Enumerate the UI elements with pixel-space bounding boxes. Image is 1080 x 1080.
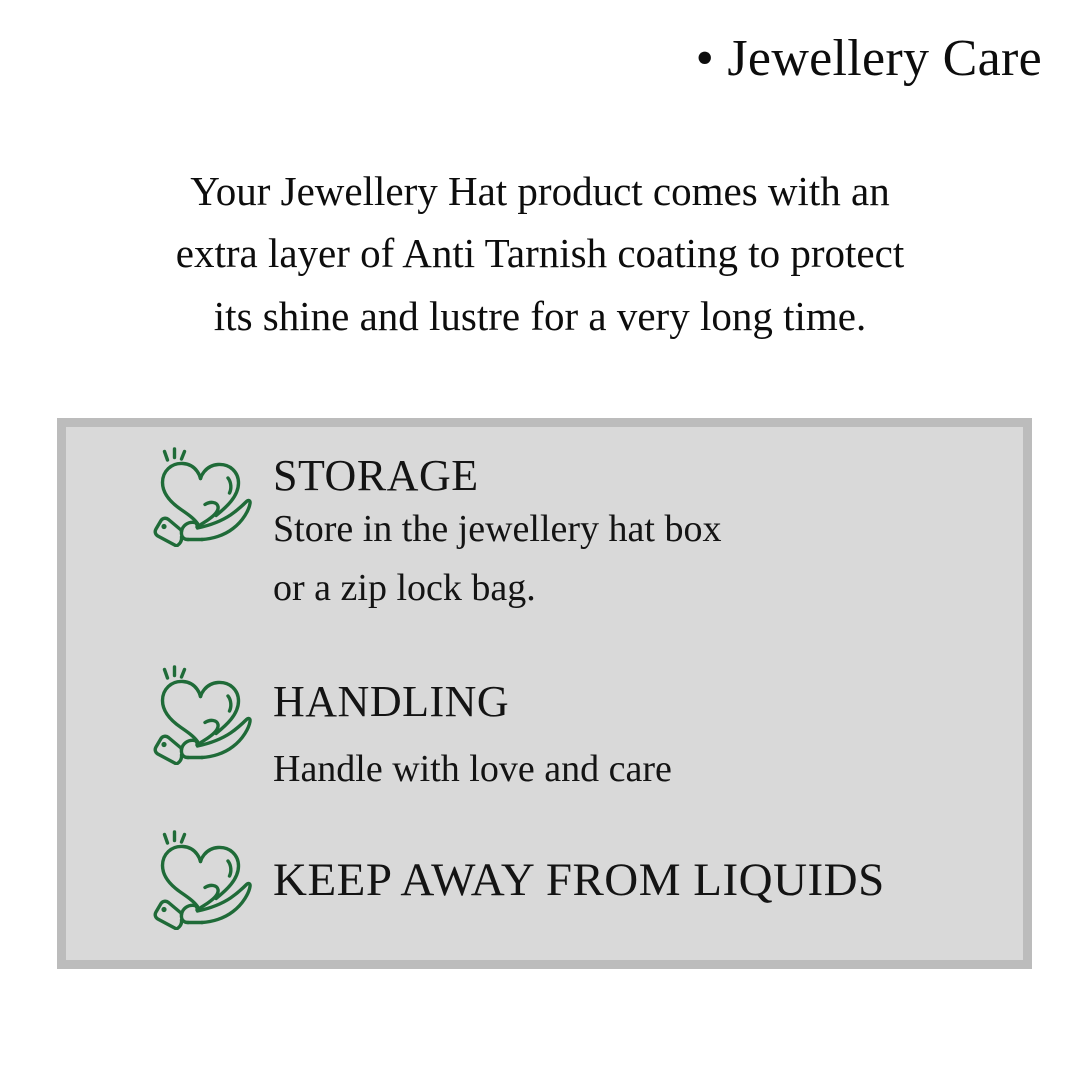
care-row-storage-body-line-1: Store in the jewellery hat box [273,500,722,559]
intro-line-1: Your Jewellery Hat product comes with an [65,160,1015,222]
intro-paragraph: Your Jewellery Hat product comes with an… [65,160,1015,347]
care-row-storage-body: Store in the jewellery hat box or a zip … [273,500,722,618]
intro-line-2: extra layer of Anti Tarnish coating to p… [65,222,1015,284]
care-row-liquids-text: KEEP AWAY FROM LIQUIDS [273,830,885,906]
page-title: • Jewellery Care [696,30,1042,87]
care-row-handling: HANDLING Handle with love and care [150,665,672,799]
care-instructions-panel: STORAGE Store in the jewellery hat box o… [57,418,1032,969]
hand-holding-heart-icon [150,447,254,547]
care-rows: STORAGE Store in the jewellery hat box o… [66,427,1023,960]
care-row-handling-title: HANDLING [273,679,672,726]
page-title-row: • Jewellery Care [0,0,1042,87]
hand-holding-heart-icon [150,830,254,930]
care-row-liquids-title: KEEP AWAY FROM LIQUIDS [273,856,885,906]
care-row-storage-body-line-2: or a zip lock bag. [273,559,722,618]
care-row-liquids: KEEP AWAY FROM LIQUIDS [150,830,885,930]
care-row-storage-title: STORAGE [273,453,722,500]
care-row-storage: STORAGE Store in the jewellery hat box o… [150,447,722,617]
care-row-storage-text: STORAGE Store in the jewellery hat box o… [273,447,722,617]
care-row-handling-body-line-1: Handle with love and care [273,740,672,799]
intro-line-3: its shine and lustre for a very long tim… [65,285,1015,347]
hand-holding-heart-icon [150,665,254,765]
care-row-handling-text: HANDLING Handle with love and care [273,665,672,799]
care-row-handling-body: Handle with love and care [273,740,672,799]
